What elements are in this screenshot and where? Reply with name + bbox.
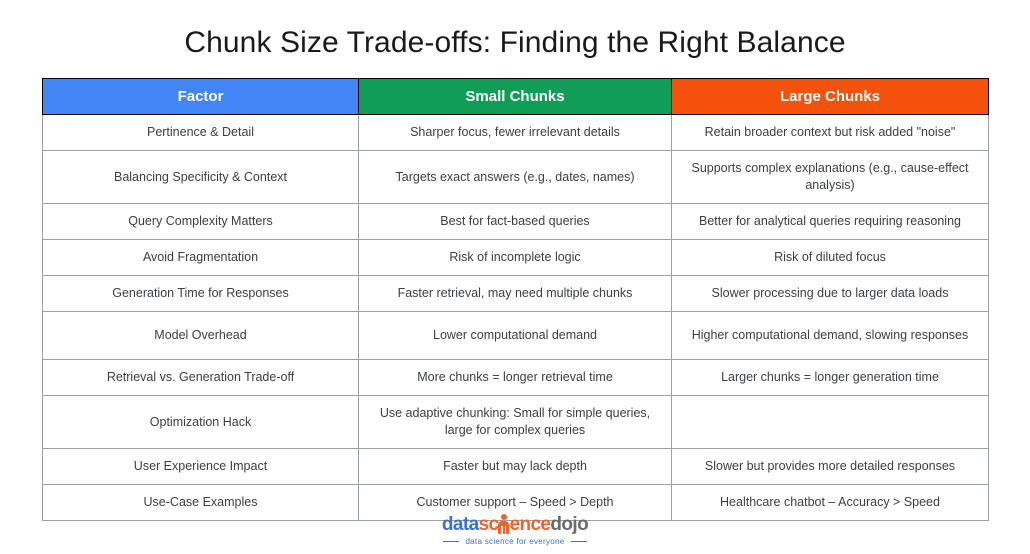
person-icon bbox=[498, 515, 509, 534]
logo: datascencedojo bbox=[442, 513, 588, 534]
cell-small-chunks: Use adaptive chunking: Small for simple … bbox=[359, 396, 672, 449]
logo-text-data: data bbox=[442, 515, 479, 534]
table-header: Factor Small Chunks Large Chunks bbox=[43, 79, 989, 115]
logo-tagline: data science for everyone bbox=[465, 537, 564, 546]
cell-small-chunks: Best for fact-based queries bbox=[359, 204, 672, 240]
cell-large-chunks: Larger chunks = longer generation time bbox=[672, 360, 989, 396]
cell-large-chunks: Slower processing due to larger data loa… bbox=[672, 276, 989, 312]
cell-factor: Model Overhead bbox=[43, 312, 359, 360]
cell-large-chunks: Slower but provides more detailed respon… bbox=[672, 449, 989, 485]
comparison-table: Factor Small Chunks Large Chunks Pertine… bbox=[42, 78, 989, 521]
cell-factor: User Experience Impact bbox=[43, 449, 359, 485]
cell-small-chunks: Faster retrieval, may need multiple chun… bbox=[359, 276, 672, 312]
cell-factor: Avoid Fragmentation bbox=[43, 240, 359, 276]
cell-factor: Retrieval vs. Generation Trade-off bbox=[43, 360, 359, 396]
slide-canvas: Chunk Size Trade-offs: Finding the Right… bbox=[0, 0, 1030, 554]
cell-large-chunks: Supports complex explanations (e.g., cau… bbox=[672, 151, 989, 204]
cell-small-chunks: More chunks = longer retrieval time bbox=[359, 360, 672, 396]
cell-small-chunks: Sharper focus, fewer irrelevant details bbox=[359, 115, 672, 151]
column-header-small-chunks: Small Chunks bbox=[359, 79, 672, 115]
tagline-rule-right bbox=[571, 541, 587, 542]
tagline-rule-left bbox=[443, 541, 459, 542]
cell-factor: Balancing Specificity & Context bbox=[43, 151, 359, 204]
cell-small-chunks: Risk of incomplete logic bbox=[359, 240, 672, 276]
cell-small-chunks: Targets exact answers (e.g., dates, name… bbox=[359, 151, 672, 204]
logo-tagline-row: data science for everyone bbox=[443, 537, 586, 546]
cell-factor: Generation Time for Responses bbox=[43, 276, 359, 312]
cell-small-chunks: Lower computational demand bbox=[359, 312, 672, 360]
footer-branding: datascencedojo data science for everyone bbox=[0, 513, 1030, 546]
cell-large-chunks: Better for analytical queries requiring … bbox=[672, 204, 989, 240]
table-row: User Experience Impact Faster but may la… bbox=[43, 449, 989, 485]
logo-text-sc: sc bbox=[479, 515, 499, 534]
table-row: Query Complexity Matters Best for fact-b… bbox=[43, 204, 989, 240]
logo-text-ence: ence bbox=[509, 515, 550, 534]
cell-factor: Pertinence & Detail bbox=[43, 115, 359, 151]
comparison-table-container: Factor Small Chunks Large Chunks Pertine… bbox=[42, 78, 988, 521]
cell-factor: Optimization Hack bbox=[43, 396, 359, 449]
table-body: Pertinence & Detail Sharper focus, fewer… bbox=[43, 115, 989, 521]
cell-large-chunks: Risk of diluted focus bbox=[672, 240, 989, 276]
cell-small-chunks: Faster but may lack depth bbox=[359, 449, 672, 485]
table-row: Pertinence & Detail Sharper focus, fewer… bbox=[43, 115, 989, 151]
table-row: Balancing Specificity & Context Targets … bbox=[43, 151, 989, 204]
table-row: Generation Time for Responses Faster ret… bbox=[43, 276, 989, 312]
cell-large-chunks: Higher computational demand, slowing res… bbox=[672, 312, 989, 360]
column-header-factor: Factor bbox=[43, 79, 359, 115]
table-row: Model Overhead Lower computational deman… bbox=[43, 312, 989, 360]
table-row: Retrieval vs. Generation Trade-off More … bbox=[43, 360, 989, 396]
column-header-large-chunks: Large Chunks bbox=[672, 79, 989, 115]
cell-factor: Query Complexity Matters bbox=[43, 204, 359, 240]
table-row: Optimization Hack Use adaptive chunking:… bbox=[43, 396, 989, 449]
table-row: Avoid Fragmentation Risk of incomplete l… bbox=[43, 240, 989, 276]
cell-large-chunks: Retain broader context but risk added "n… bbox=[672, 115, 989, 151]
logo-text-dojo: dojo bbox=[550, 515, 588, 534]
page-title: Chunk Size Trade-offs: Finding the Right… bbox=[0, 24, 1030, 62]
table-header-row: Factor Small Chunks Large Chunks bbox=[43, 79, 989, 115]
cell-large-chunks bbox=[672, 396, 989, 449]
